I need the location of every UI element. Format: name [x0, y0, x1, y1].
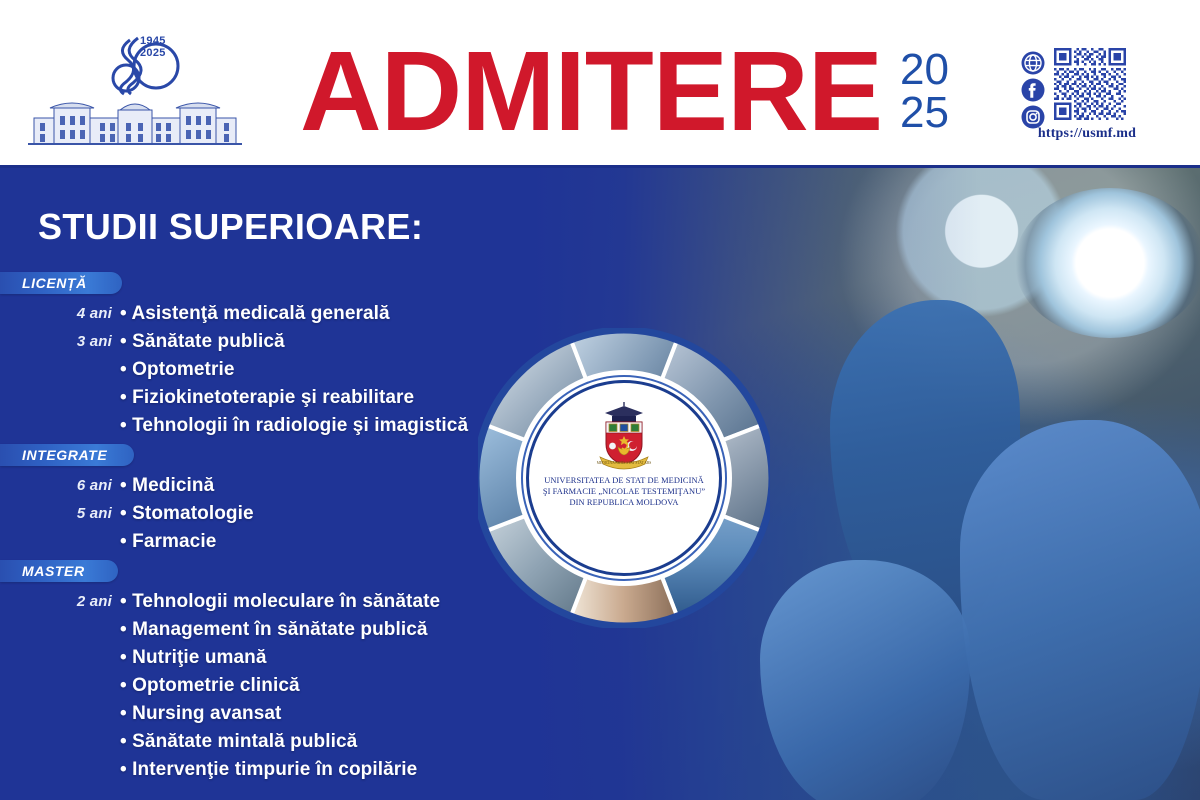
university-emblem: MEDICINA ARTIS STAT STAT ARS UNIVERSITAT…	[526, 380, 722, 576]
badge-licenta: LICENȚĂ	[0, 272, 122, 294]
year-bottom: 25	[900, 91, 949, 134]
facebook-icon[interactable]	[1020, 77, 1046, 103]
list-item: 2 ani Tehnologii moleculare în sănătate	[0, 588, 560, 616]
surgical-lamp-icon	[1015, 188, 1200, 338]
program-years: 6 ani	[0, 472, 112, 500]
program-years: 4 ani	[0, 300, 112, 328]
admission-poster: 1945 2025	[0, 0, 1200, 800]
page-main-title: ADMITERE	[300, 34, 882, 149]
program-name: Medicină	[120, 472, 214, 500]
program-years: 2 ani	[0, 588, 112, 616]
qr-code[interactable]	[1054, 48, 1126, 120]
poster-header: 1945 2025	[0, 0, 1200, 168]
list-item: Optometrie clinică	[0, 672, 560, 700]
anniversary-year-to: 2025	[140, 48, 166, 60]
program-years: 5 ani	[0, 500, 112, 528]
list-item: Tehnologii în radiologie şi imagistică	[0, 412, 560, 440]
list-item: Nursing avansat	[0, 700, 560, 728]
program-name: Fiziokinetoterapie şi reabilitare	[120, 384, 414, 412]
contact-block: https://usmf.md	[1020, 48, 1180, 153]
emblem-line-2: ŞI FARMACIE „NICOLAE TESTEMIŢANU”	[531, 486, 717, 497]
section-integrate: INTEGRATE 6 ani Medicină 5 ani Stomatolo…	[0, 444, 560, 556]
website-url[interactable]: https://usmf.md	[1012, 126, 1162, 142]
master-program-list: 2 ani Tehnologii moleculare în sănătate …	[0, 588, 560, 784]
badge-integrate: INTEGRATE	[0, 444, 134, 466]
university-building-icon	[20, 92, 250, 154]
list-item: 3 ani Sănătate publică	[0, 328, 560, 356]
program-name: Farmacie	[120, 528, 216, 556]
svg-text:MEDICINA ARTIS STAT STAT ARS: MEDICINA ARTIS STAT STAT ARS	[597, 461, 652, 465]
program-years: 3 ani	[0, 328, 112, 356]
list-item: Nutriţie umană	[0, 644, 560, 672]
badge-licenta-label: LICENȚĂ	[0, 272, 87, 294]
program-name: Stomatologie	[120, 500, 254, 528]
program-name: Management în sănătate publică	[120, 616, 428, 644]
list-item: 5 ani Stomatologie	[0, 500, 560, 528]
program-name: Tehnologii în radiologie şi imagistică	[120, 412, 468, 440]
list-item: Optometrie	[0, 356, 560, 384]
page-title: STUDII SUPERIOARE:	[38, 206, 423, 248]
photo-surgical-drape	[760, 560, 970, 800]
programs-panel: STUDII SUPERIOARE: LICENȚĂ 4 ani Asisten…	[0, 168, 560, 800]
photo-collage-wheel: MEDICINA ARTIS STAT STAT ARS UNIVERSITAT…	[478, 282, 770, 674]
program-name: Tehnologii moleculare în sănătate	[120, 588, 440, 616]
section-master: MASTER 2 ani Tehnologii moleculare în să…	[0, 560, 560, 784]
program-name: Asistenţă medicală generală	[120, 300, 390, 328]
university-coat-of-arms-icon: MEDICINA ARTIS STAT STAT ARS	[593, 397, 655, 471]
program-name: Optometrie	[120, 356, 235, 384]
title-block: ADMITERE 20 25	[300, 34, 1000, 154]
anniversary-logo: 1945 2025	[20, 30, 250, 160]
globe-icon[interactable]	[1020, 50, 1046, 76]
list-item: Farmacie	[0, 528, 560, 556]
photo-surgeon-operating	[960, 420, 1200, 800]
list-item: Fiziokinetoterapie şi reabilitare	[0, 384, 560, 412]
badge-master: MASTER	[0, 560, 118, 582]
list-item: Intervenţie timpurie în copilărie	[0, 756, 560, 784]
list-item: 6 ani Medicină	[0, 472, 560, 500]
admission-year: 20 25	[900, 48, 949, 134]
list-item: 4 ani Asistenţă medicală generală	[0, 300, 560, 328]
program-name: Sănătate mintală publică	[120, 728, 357, 756]
integrate-program-list: 6 ani Medicină 5 ani Stomatologie Farmac…	[0, 472, 560, 556]
program-name: Nursing avansat	[120, 700, 281, 728]
anniversary-dates: 1945 2025	[140, 36, 166, 60]
program-name: Optometrie clinică	[120, 672, 300, 700]
list-item: Management în sănătate publică	[0, 616, 560, 644]
program-name: Nutriţie umană	[120, 644, 267, 672]
badge-integrate-label: INTEGRATE	[0, 444, 107, 466]
social-icons	[1020, 50, 1050, 126]
badge-master-label: MASTER	[0, 560, 85, 582]
emblem-line-3: DIN REPUBLICA MOLDOVA	[531, 497, 717, 508]
year-top: 20	[900, 48, 949, 91]
section-licenta: LICENȚĂ 4 ani Asistenţă medicală general…	[0, 272, 560, 440]
licenta-program-list: 4 ani Asistenţă medicală generală 3 ani …	[0, 300, 560, 440]
program-name: Intervenţie timpurie în copilărie	[120, 756, 417, 784]
program-name: Sănătate publică	[120, 328, 285, 356]
emblem-line-1: UNIVERSITATEA DE STAT DE MEDICINĂ	[531, 475, 717, 486]
emblem-text: UNIVERSITATEA DE STAT DE MEDICINĂ ŞI FAR…	[531, 475, 717, 508]
list-item: Sănătate mintală publică	[0, 728, 560, 756]
